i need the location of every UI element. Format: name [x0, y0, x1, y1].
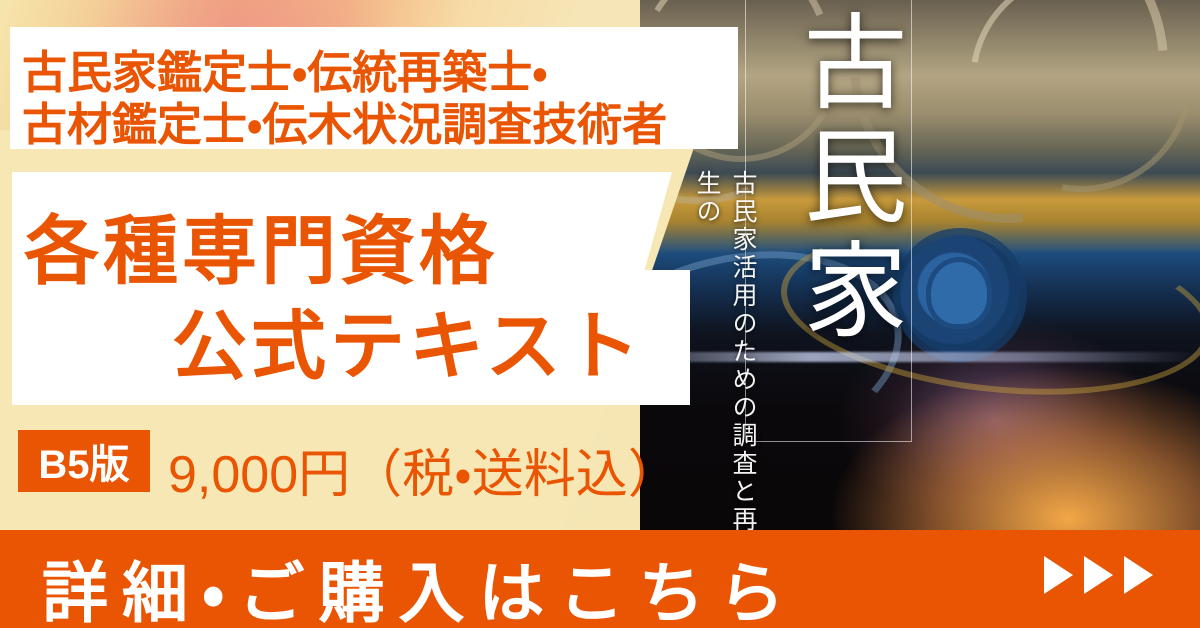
cover-subtitle-main: 古民家活用のための調査と再生の	[688, 170, 760, 540]
family-crest-icon	[900, 235, 1020, 355]
promo-banner: 古民家 伝統構法 古民家活用のための調査と再生の 古民家鑑定士・伝統再築士・ 古…	[0, 0, 1200, 628]
main-title-line-2: 公式テキスト	[172, 285, 644, 394]
main-title-line-1: 各種専門資格	[24, 190, 498, 299]
triangle-right-icon	[1044, 556, 1073, 594]
cover-title: 古民家	[752, 8, 902, 350]
headline-line-2: 古材鑑定士・伝木状況調査技術者	[22, 88, 667, 153]
format-badge: B5版	[18, 430, 150, 492]
cta-label[interactable]: 詳細・ご購入はこちら	[42, 540, 798, 628]
price-text: 9,000円（税・送料込）	[168, 432, 680, 507]
triangle-right-icon	[1084, 556, 1113, 594]
cta-arrows	[1044, 556, 1153, 594]
triangle-right-icon	[1124, 556, 1153, 594]
